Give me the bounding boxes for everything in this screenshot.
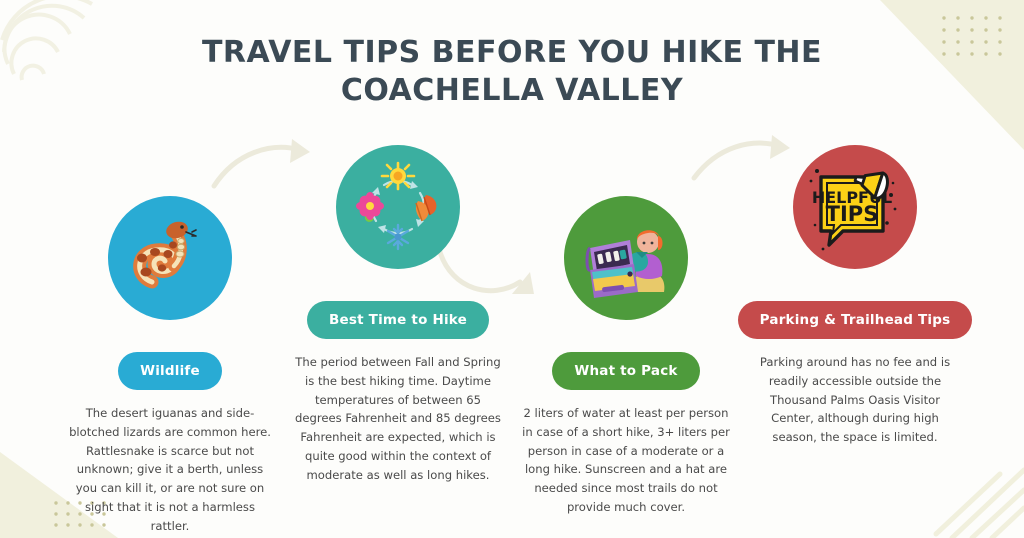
body-text-wildlife: The desert iguanas and side-blotched liz…: [60, 404, 280, 535]
icon-circle-wrap-best-time: [288, 145, 508, 295]
section-parking-trailhead-tips: HELPFUL TIPS: [745, 145, 965, 447]
infographic-canvas: TRAVEL TIPS BEFORE YOU HIKE THE COACHELL…: [0, 0, 1024, 538]
label-pill-best-time-to-hike[interactable]: Best Time to Hike: [307, 301, 489, 339]
section-wildlife: Wildlife The desert iguanas and side-blo…: [60, 196, 280, 535]
icon-circle-wildlife: [108, 196, 232, 320]
section-what-to-pack: What to Pack 2 liters of water at least …: [516, 196, 736, 517]
corner-lines-bottom-right: [936, 470, 1024, 538]
label-pill-what-to-pack[interactable]: What to Pack: [552, 352, 699, 390]
pill-row-what-to-pack: What to Pack: [516, 352, 736, 390]
icon-circle-what-to-pack: [564, 196, 688, 320]
body-text-what-to-pack: 2 liters of water at least per person in…: [516, 404, 736, 517]
pill-row-parking: Parking & Trailhead Tips: [745, 301, 965, 339]
packing-suitcase-icon: [574, 206, 678, 310]
label-pill-parking-trailhead-tips[interactable]: Parking & Trailhead Tips: [738, 301, 973, 339]
four-seasons-cycle-icon: [348, 157, 448, 257]
icon-circle-wrap-what-to-pack: [516, 196, 736, 346]
suitcase-base: [590, 264, 638, 298]
icon-circle-wrap-parking: HELPFUL TIPS: [745, 145, 965, 295]
label-pill-wildlife[interactable]: Wildlife: [118, 352, 222, 390]
pill-row-wildlife: Wildlife: [60, 352, 280, 390]
helpful-tips-line2: TIPS: [826, 202, 879, 226]
icon-circle-wrap-wildlife: [60, 196, 280, 346]
body-text-parking-trailhead-tips: Parking around has no fee and is readily…: [745, 353, 965, 447]
icon-circle-best-time: [336, 145, 460, 269]
snowflake-center: [395, 234, 402, 241]
pill-row-best-time: Best Time to Hike: [288, 301, 508, 339]
helpful-tips-megaphone-icon: HELPFUL TIPS: [803, 155, 907, 259]
autumn-leaves-glyph: [416, 195, 436, 221]
rattlesnake-icon: [122, 210, 218, 306]
section-best-time-to-hike: Best Time to Hike The period between Fal…: [288, 145, 508, 484]
icon-circle-parking-tips: HELPFUL TIPS: [793, 145, 917, 269]
page-title: TRAVEL TIPS BEFORE YOU HIKE THE COACHELL…: [0, 34, 1024, 111]
sun-glyph: [382, 163, 414, 189]
body-text-best-time-to-hike: The period between Fall and Spring is th…: [288, 353, 508, 484]
spring-flower-glyph: [356, 192, 384, 222]
